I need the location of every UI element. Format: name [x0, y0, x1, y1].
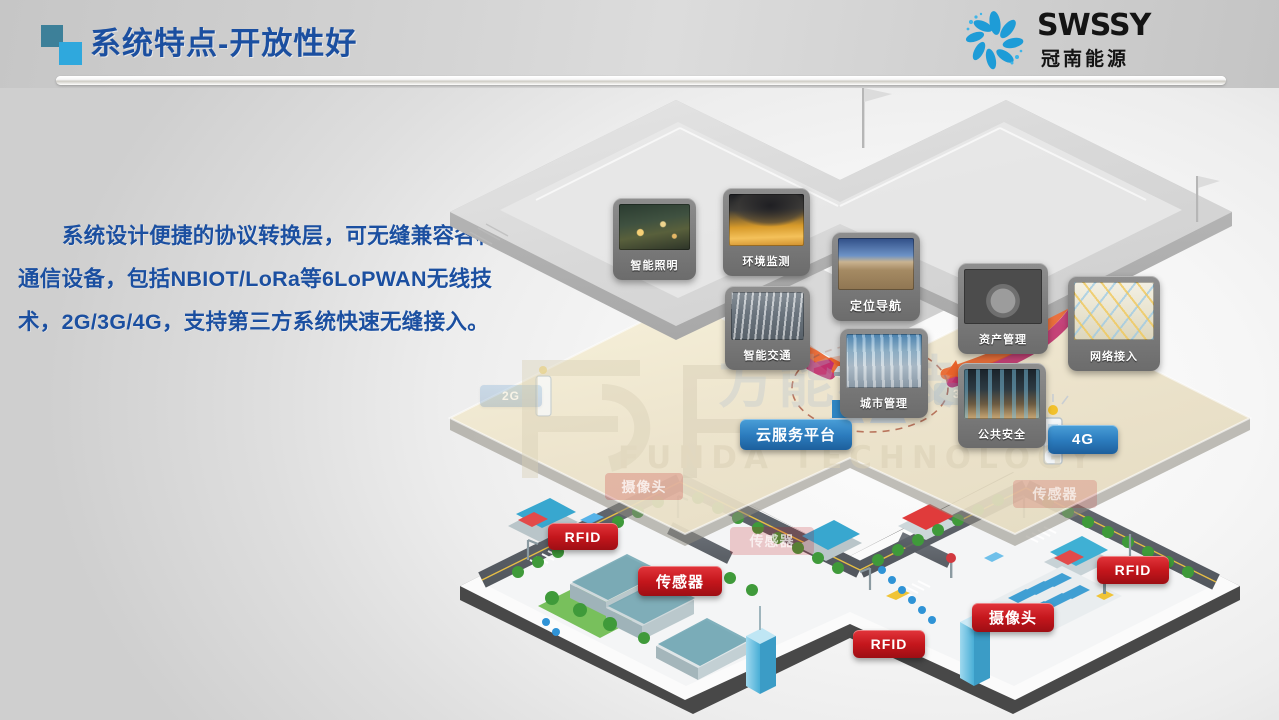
tile-smart-traffic[interactable]: 智能交通 — [725, 286, 810, 370]
tile-city-management[interactable]: 城市管理 — [840, 328, 928, 418]
tile-thumbnail-smokestacks — [729, 194, 804, 246]
tile-public-security[interactable]: 公共安全 — [958, 363, 1046, 448]
tile-caption: 智能交通 — [744, 340, 792, 370]
tile-thumbnail-truck-highway — [838, 238, 914, 290]
brand-logo: SWSSY 冠南能源 — [963, 6, 1225, 74]
badge-cloud-platform[interactable]: 云服务平台 — [740, 419, 852, 450]
badge-label: 传感器 — [750, 531, 795, 551]
badge-camera-1[interactable]: 摄像头 — [972, 603, 1054, 632]
tile-caption: 资产管理 — [979, 324, 1027, 354]
tile-positioning-navigation[interactable]: 定位导航 — [832, 232, 920, 321]
badge-label: 云服务平台 — [756, 424, 836, 445]
tile-thumbnail-control-room — [964, 369, 1040, 419]
body-paragraph: 系统设计便捷的协议转换层，可无缝兼容各种通信设备，包括NBIOT/LoRa等6L… — [18, 215, 498, 344]
badge-label: 摄像头 — [989, 607, 1037, 628]
iot-architecture-diagram: RFID 传感器 RFID 摄像头 RFID — [430, 80, 1279, 720]
bullet-square-light-icon — [59, 42, 82, 65]
badge-label: RFID — [871, 636, 908, 652]
badge-label: 传感器 — [1033, 484, 1078, 504]
tile-thumbnail-night-city — [619, 204, 690, 250]
ghost-badge-2g: 2G — [480, 385, 542, 407]
tile-smart-lighting[interactable]: 智能照明 — [613, 198, 696, 280]
tile-asset-management[interactable]: 资产管理 — [958, 263, 1048, 354]
slide-canvas: 系统特点-开放性好 SWSSY 冠南能源 系 — [0, 0, 1279, 720]
tile-thumbnail-manhole-cover — [964, 269, 1042, 324]
tile-caption: 公共安全 — [978, 419, 1026, 448]
body-paragraph-text: 系统设计便捷的协议转换层，可无缝兼容各种通信设备，包括NBIOT/LoRa等6L… — [18, 215, 498, 344]
tile-thumbnail-map-tablet — [1074, 282, 1154, 340]
tile-caption: 环境监测 — [743, 246, 791, 276]
badge-4g[interactable]: 4G — [1048, 425, 1118, 454]
tile-caption: 网络接入 — [1090, 340, 1138, 371]
logo-chinese-name: 冠南能源 — [1041, 44, 1129, 71]
tile-thumbnail-city-skyline — [846, 334, 922, 388]
tile-thumbnail-traffic-jam — [731, 292, 804, 340]
badge-label: 4G — [1072, 431, 1094, 448]
tile-caption: 定位导航 — [850, 290, 902, 321]
ghost-badge-camera: 摄像头 — [605, 473, 683, 500]
water-drop-petals-icon — [963, 8, 1027, 72]
tile-caption: 城市管理 — [860, 388, 908, 418]
badge-label: 2G — [502, 389, 520, 403]
ghost-badge-sensor-2: 传感器 — [1013, 480, 1097, 508]
page-title: 系统特点-开放性好 — [90, 18, 357, 63]
ghost-badge-sensor: 传感器 — [730, 527, 814, 555]
tile-caption: 智能照明 — [631, 250, 679, 280]
badge-rfid-2[interactable]: RFID — [853, 630, 925, 658]
badge-label: 摄像头 — [622, 477, 667, 497]
logo-wordmark: SWSSY — [1037, 8, 1150, 43]
tile-network-access[interactable]: 网络接入 — [1068, 276, 1160, 371]
tile-environment-monitoring[interactable]: 环境监测 — [723, 188, 810, 276]
